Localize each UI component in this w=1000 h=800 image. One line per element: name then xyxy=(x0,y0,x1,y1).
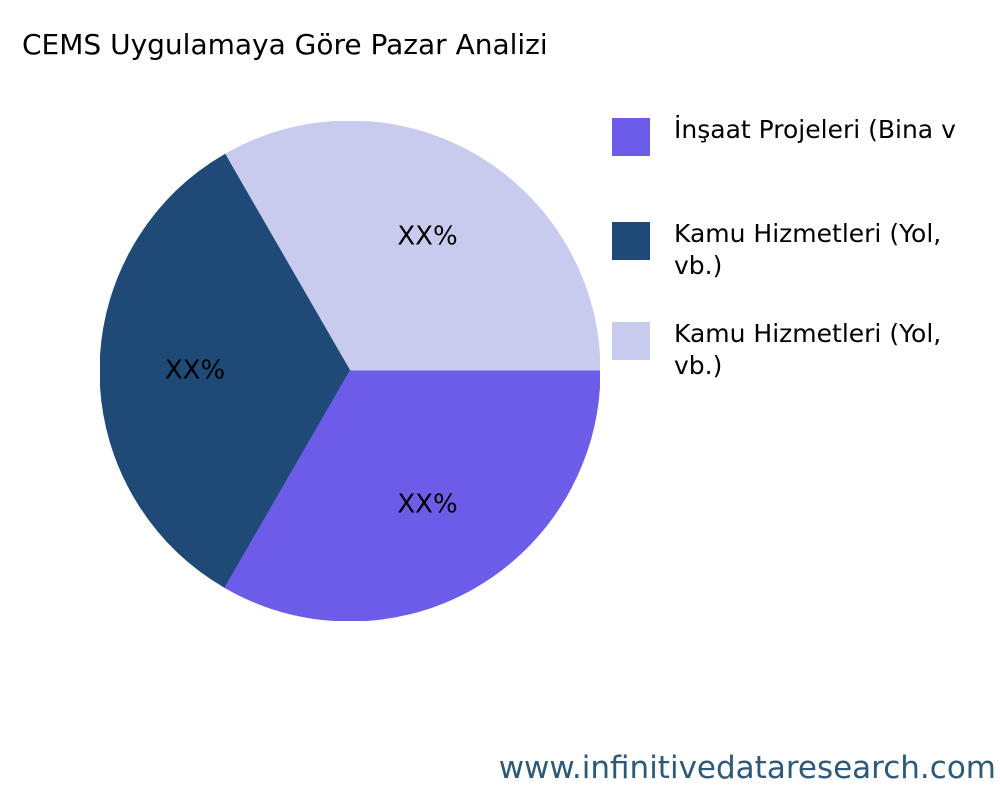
pie-chart-plot-area: XX% XX% XX% xyxy=(100,121,600,621)
legend-label-insaat-projeleri: İnşaat Projeleri (Bina v xyxy=(674,114,1000,146)
watermark-url: www.infinitivedataresearch.com xyxy=(499,750,996,786)
pie-svg: XX% XX% XX% xyxy=(100,121,600,621)
page-title: CEMS Uygulamaya Göre Pazar Analizi xyxy=(22,28,548,62)
pie-slice-label-lavender: XX% xyxy=(397,221,457,251)
chart-legend: İnşaat Projeleri (Bina v Kamu Hizmetleri… xyxy=(612,112,1000,412)
legend-swatch-kamu-hizmetleri-2 xyxy=(612,322,650,360)
pie-slice-label-purple: XX% xyxy=(397,490,457,520)
legend-swatch-insaat-projeleri xyxy=(612,118,650,156)
pie-chart-figure: CEMS Uygulamaya Göre Pazar Analizi XX% X… xyxy=(0,0,1000,800)
legend-label-kamu-hizmetleri-2: Kamu Hizmetleri (Yol, vb.) xyxy=(674,318,1000,382)
legend-label-kamu-hizmetleri-1: Kamu Hizmetleri (Yol, vb.) xyxy=(674,218,1000,282)
legend-swatch-kamu-hizmetleri-1 xyxy=(612,222,650,260)
pie-slice-label-navy: XX% xyxy=(165,356,225,386)
